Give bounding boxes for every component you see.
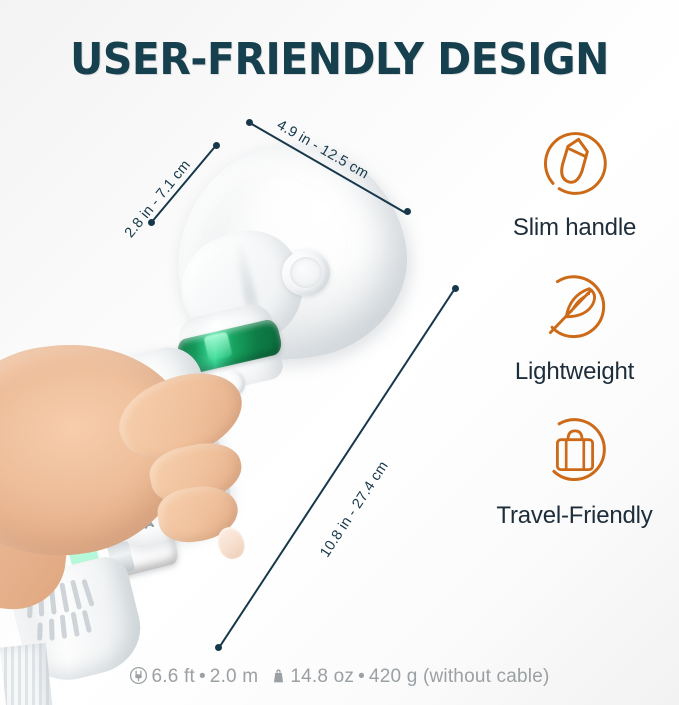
feature-slim-handle: Slim handle xyxy=(470,120,679,242)
weight-g: 420 g xyxy=(369,666,418,687)
slim-handle-icon xyxy=(531,120,619,208)
dim-length-dot-bottom xyxy=(215,644,222,651)
suitcase-icon xyxy=(531,408,619,496)
dim-width-dot-right xyxy=(404,208,411,215)
page-title: USER-FRIENDLY DESIGN xyxy=(24,34,655,85)
feature-label: Slim handle xyxy=(470,214,679,242)
product-photo: KUUBIA xyxy=(0,95,470,675)
cable-length-ft: 6.6 ft xyxy=(151,666,194,687)
feature-travel-friendly: Travel-Friendly xyxy=(470,408,679,530)
feature-lightweight: Lightweight xyxy=(470,264,679,386)
feature-list: Slim handle Lightweight xyxy=(470,120,679,552)
weight-oz: 14.8 oz xyxy=(290,666,354,687)
feature-label: Lightweight xyxy=(470,358,679,386)
infographic-canvas: USER-FRIENDLY DESIGN KUUBIA xyxy=(0,0,679,705)
feature-label: Travel-Friendly xyxy=(470,502,679,530)
weight-icon xyxy=(270,667,287,691)
spec-separator: • xyxy=(358,666,365,687)
power-plug-icon xyxy=(129,666,148,691)
feather-icon xyxy=(531,264,619,352)
cable-length-m: 2.0 m xyxy=(210,666,259,687)
spec-separator: • xyxy=(199,666,206,687)
weight-note: (without cable) xyxy=(423,666,550,687)
spec-bar: 6.6 ft•2.0 m14.8 oz•420 g (without cable… xyxy=(0,666,679,691)
